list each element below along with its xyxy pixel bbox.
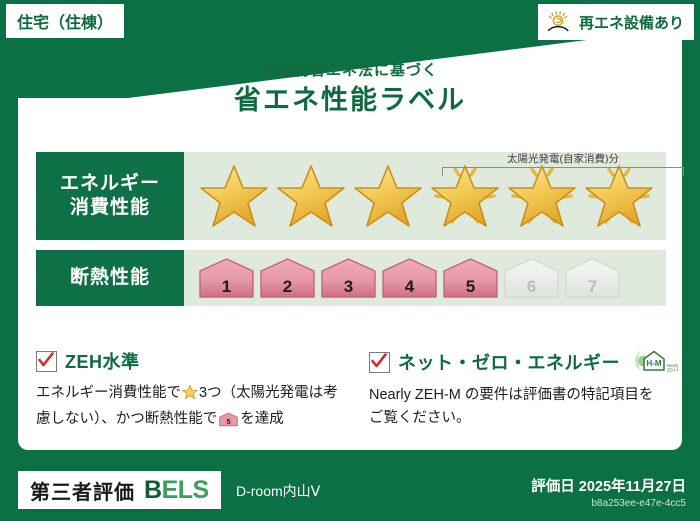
bels-jp-label: 第三者評価: [30, 476, 135, 505]
grade-marker-6: 6: [503, 257, 560, 299]
grade-number: 5: [466, 278, 475, 299]
renewable-energy-badge: 再エネ設備あり: [538, 4, 694, 40]
grade-marker-3: 3: [320, 257, 377, 299]
zeh-section-body: エネルギー消費性能で3つ（太陽光発電は考慮しない）、かつ断熱性能で5を達成: [36, 382, 351, 436]
star-rating: [184, 152, 656, 240]
grade-marker-4: 4: [381, 257, 438, 299]
grade-number: 6: [527, 278, 536, 299]
star-3: [350, 158, 425, 234]
star-1: [196, 158, 271, 234]
star-4-solar: [427, 158, 502, 234]
zeh-standard-section: ZEH水準 エネルギー消費性能で3つ（太陽光発電は考慮しない）、かつ断熱性能で5…: [36, 348, 351, 436]
zeh-body-part1: エネルギー消費性能で: [36, 385, 181, 401]
svg-text:5: 5: [227, 417, 231, 426]
grade-marker-5: 5: [442, 257, 499, 299]
star-6-solar: [581, 158, 656, 234]
energy-row-label: エネルギー 消費性能: [36, 152, 184, 240]
rating-rows: エネルギー 消費性能 太陽光発電(自家消費)分: [36, 152, 666, 316]
page-title: 省エネ性能ラベル: [0, 84, 700, 116]
category-tag: 住宅（住棟）: [6, 4, 124, 38]
grade-marker-1: 1: [198, 257, 255, 299]
energy-row-value: 太陽光発電(自家消費)分: [184, 152, 666, 240]
nearly-zeh-m-logo-icon: H-M Nearly ZEH-M: [632, 348, 678, 376]
insulation-row-label-text: 断熱性能: [70, 266, 150, 290]
bels-badge: 第三者評価 BELS: [18, 471, 221, 509]
inline-star-icon: [182, 388, 198, 404]
grade-number: 3: [344, 278, 353, 299]
logo-sub2: ZEH-M: [667, 368, 678, 373]
star-5-solar: [504, 158, 579, 234]
sun-solar-icon: [546, 9, 572, 35]
project-name: D-room内山Ⅴ: [236, 481, 320, 501]
grade-number: 2: [283, 278, 292, 299]
evaluation-info: 評価日 2025年11月27日 b8a253ee-e47e-4cc5: [531, 479, 686, 509]
bels-logo-els: ELS: [162, 476, 209, 504]
zeh-section-title: ZEH水準: [65, 348, 140, 374]
bels-logo-b: B: [144, 476, 162, 504]
evaluation-date: 評価日 2025年11月27日: [531, 479, 686, 496]
zeh-section-header: ZEH水準: [36, 348, 351, 374]
zeh-body-part3: を達成: [240, 411, 284, 427]
energy-performance-row: エネルギー 消費性能 太陽光発電(自家消費)分: [36, 152, 666, 240]
info-columns: ZEH水準 エネルギー消費性能で3つ（太陽光発電は考慮しない）、かつ断熱性能で5…: [36, 348, 666, 436]
grade-marker-2: 2: [259, 257, 316, 299]
star-2: [273, 158, 348, 234]
title-block: 建築物省エネ法に基づく 省エネ性能ラベル: [0, 62, 700, 116]
label-subtitle: 建築物省エネ法に基づく: [0, 62, 700, 80]
netzero-section-title: ネット・ゼロ・エネルギー: [398, 349, 620, 375]
insulation-performance-row: 断熱性能: [36, 250, 666, 306]
grade-number: 4: [405, 278, 414, 299]
zeh-checkbox: [36, 351, 57, 372]
grade-number: 7: [588, 278, 597, 299]
insulation-row-value: 1 2 3: [184, 250, 666, 306]
grade-scale: 1 2 3: [184, 250, 621, 306]
category-tag-label: 住宅（住棟）: [17, 9, 113, 33]
insulation-row-label: 断熱性能: [36, 250, 184, 306]
inline-grade-badge: 5: [219, 415, 238, 431]
netzero-section-header: ネット・ゼロ・エネルギー H-M Nearly ZEH-M: [369, 348, 666, 376]
netzero-checkbox: [369, 352, 390, 373]
svg-text:H-M: H-M: [646, 359, 661, 368]
netzero-section: ネット・ゼロ・エネルギー H-M Nearly ZEH-M Nearly ZEH…: [351, 348, 666, 436]
energy-row-label-line2: 消費性能: [70, 196, 150, 220]
energy-row-label-line1: エネルギー: [60, 172, 160, 196]
netzero-section-body: Nearly ZEH-M の要件は評価書の特記項目をご覧ください。: [369, 384, 666, 431]
grade-number: 1: [222, 278, 231, 299]
bels-logo: BELS: [144, 476, 209, 505]
evaluation-id: b8a253ee-e47e-4cc5: [531, 499, 686, 509]
energy-performance-label: 住宅（住棟） 再エネ設備あり 建築物省エネ法に基づく: [0, 0, 700, 521]
renewable-badge-label: 再エネ設備あり: [579, 12, 684, 33]
grade-marker-7: 7: [564, 257, 621, 299]
